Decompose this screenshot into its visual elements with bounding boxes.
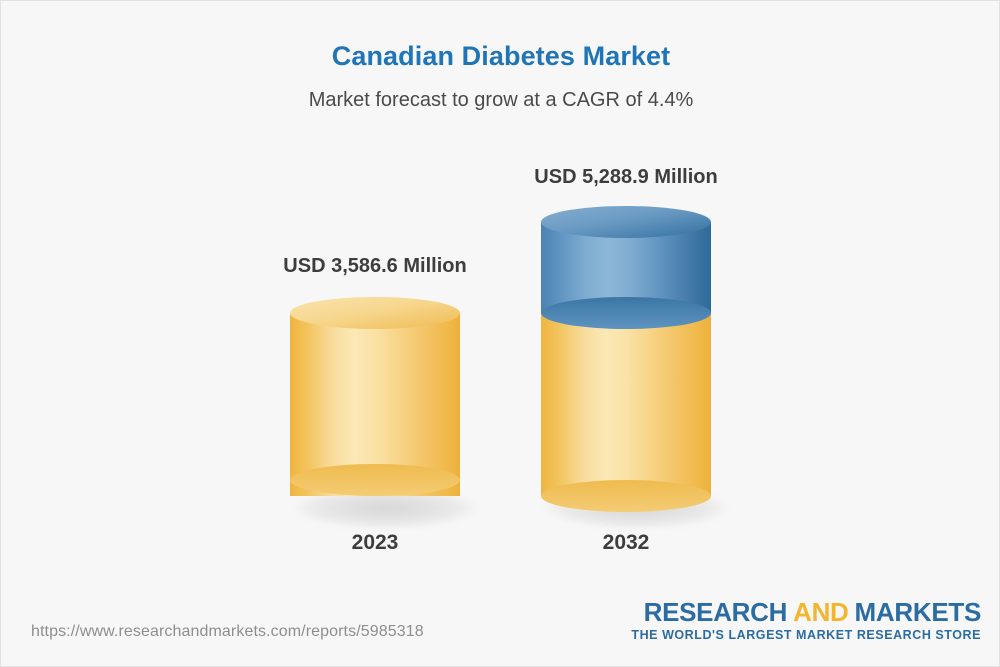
report-url[interactable]: https://www.researchandmarkets.com/repor… [31,623,424,641]
cylinder-segment-gold-2032 [541,313,711,512]
value-label-2023: USD 3,586.6 Million [260,255,490,278]
logo-word-and: AND [793,597,848,627]
logo-wordmark: RESEARCHANDMARKETS [631,599,981,626]
plot-area: USD 3,586.6 Million 2023 USD 5,288.9 Mil… [1,1,1000,601]
logo-word-research: RESEARCH [644,597,788,627]
cylinder-cap-blue-2032 [541,206,711,238]
value-label-2032: USD 5,288.9 Million [510,166,742,189]
cylinder-segment-blue-2032 [541,206,711,329]
cylinder-base-gold-2032 [541,480,711,512]
chart-figure: Canadian Diabetes Market Market forecast… [0,0,1000,667]
logo-word-markets: MARKETS [855,597,981,627]
cylinder-base-gold-2023 [290,464,460,496]
category-label-2023: 2023 [290,531,460,555]
cylinder-base-blue-2032 [541,297,711,329]
cylinder-body-gold-2032 [541,313,711,496]
brand-logo[interactable]: RESEARCHANDMARKETS THE WORLD'S LARGEST M… [631,599,981,642]
category-label-2032: 2032 [541,531,711,555]
cylinder-cap-gold-2023 [290,297,460,329]
cylinder-segment-gold-2023 [290,297,460,512]
logo-tagline: THE WORLD'S LARGEST MARKET RESEARCH STOR… [631,628,981,642]
